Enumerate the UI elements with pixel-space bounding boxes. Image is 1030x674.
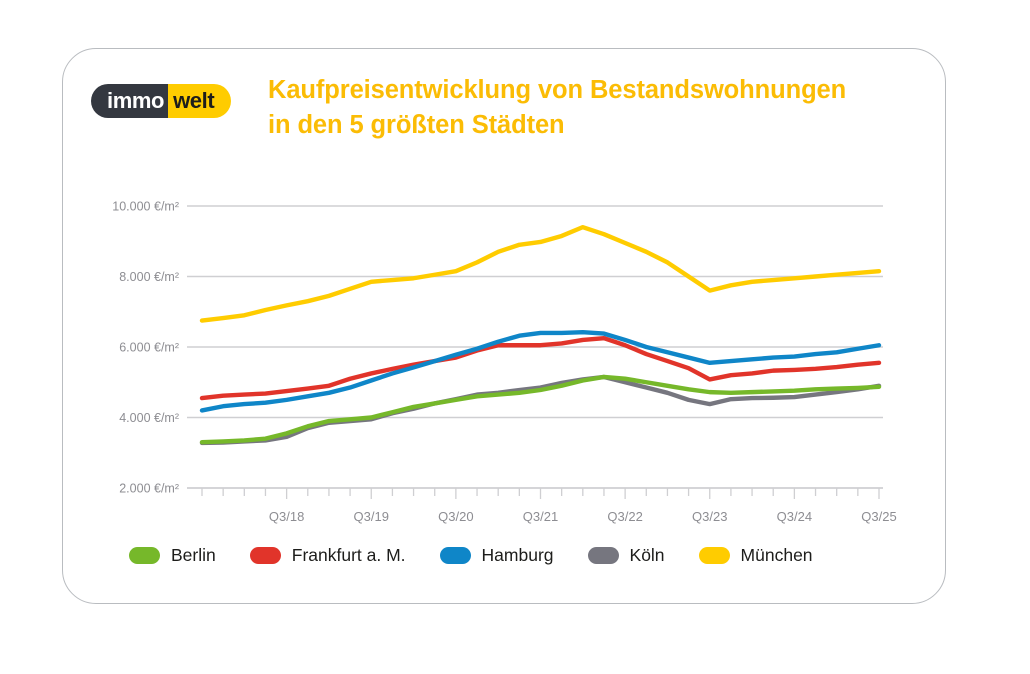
- series-line-k-ln: [202, 377, 879, 443]
- y-axis-tick-label: 10.000 €/m²: [112, 200, 179, 214]
- y-axis-tick-label: 6.000 €/m²: [119, 341, 179, 355]
- legend-label: Frankfurt a. M.: [292, 545, 406, 566]
- legend-item[interactable]: Frankfurt a. M.: [250, 545, 406, 566]
- x-axis-tick-label: Q3/22: [607, 509, 642, 524]
- x-axis-tick-marks: [202, 488, 879, 499]
- x-axis-tick-label: Q3/24: [777, 509, 812, 524]
- legend-item[interactable]: Hamburg: [440, 545, 554, 566]
- chart-canvas: 2.000 €/m²4.000 €/m²6.000 €/m²8.000 €/m²…: [63, 49, 947, 605]
- legend-color-swatch: [588, 547, 619, 564]
- legend-color-swatch: [250, 547, 281, 564]
- legend-color-swatch: [440, 547, 471, 564]
- chart-card: immo welt Kaufpreisentwicklung von Besta…: [62, 48, 946, 604]
- y-axis-tick-label: 8.000 €/m²: [119, 270, 179, 284]
- legend-label: Berlin: [171, 545, 216, 566]
- legend-color-swatch: [699, 547, 730, 564]
- x-axis-tick-label: Q3/20: [438, 509, 473, 524]
- legend-item[interactable]: München: [699, 545, 813, 566]
- x-axis-tick-label: Q3/19: [354, 509, 389, 524]
- x-axis-tick-labels: Q3/18Q3/19Q3/20Q3/21Q3/22Q3/23Q3/24Q3/25: [269, 509, 897, 524]
- x-axis-tick-label: Q3/25: [861, 509, 896, 524]
- x-axis-tick-label: Q3/21: [523, 509, 558, 524]
- chart-screenshot: immo welt Kaufpreisentwicklung von Besta…: [0, 0, 1030, 674]
- x-axis-tick-label: Q3/18: [269, 509, 304, 524]
- line-chart: 2.000 €/m²4.000 €/m²6.000 €/m²8.000 €/m²…: [63, 49, 947, 605]
- legend-item[interactable]: Köln: [588, 545, 665, 566]
- y-axis-tick-label: 2.000 €/m²: [119, 482, 179, 496]
- legend-item[interactable]: Berlin: [129, 545, 216, 566]
- x-axis-tick-label: Q3/23: [692, 509, 727, 524]
- legend-label: Hamburg: [482, 545, 554, 566]
- y-axis-tick-label: 4.000 €/m²: [119, 411, 179, 425]
- series-line-m-nchen: [202, 227, 879, 320]
- legend-label: Köln: [630, 545, 665, 566]
- legend-color-swatch: [129, 547, 160, 564]
- legend-label: München: [741, 545, 813, 566]
- chart-series-group: [202, 227, 879, 443]
- chart-legend: BerlinFrankfurt a. M.HamburgKölnMünchen: [129, 545, 919, 566]
- y-axis-tick-labels: 2.000 €/m²4.000 €/m²6.000 €/m²8.000 €/m²…: [112, 200, 179, 496]
